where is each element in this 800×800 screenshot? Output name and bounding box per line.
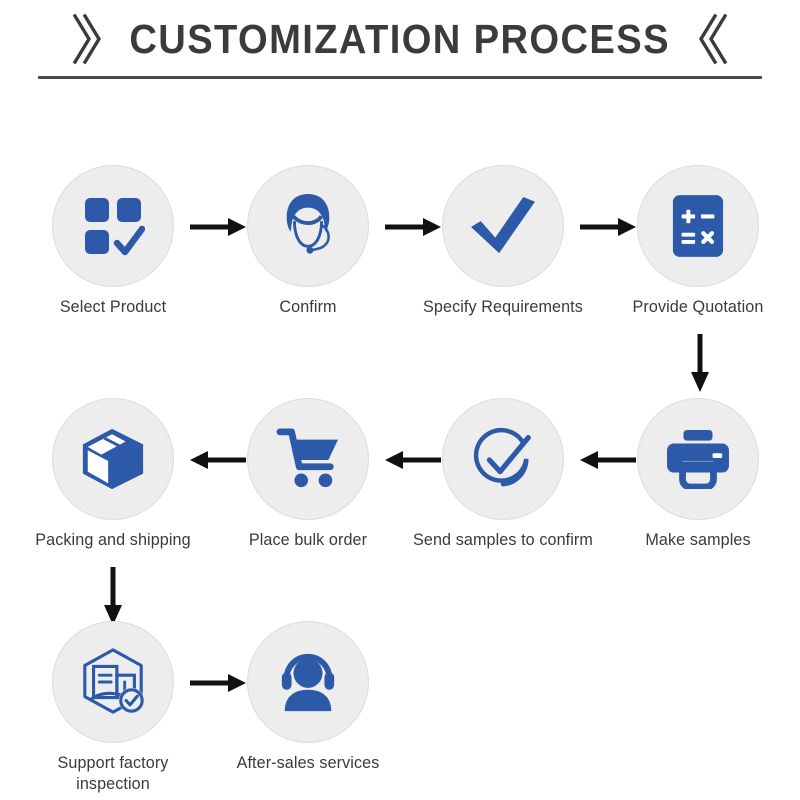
double-chevron-right-icon [71, 13, 101, 65]
step-icon-badge [247, 621, 369, 743]
step-node-confirm[interactable]: Confirm [213, 165, 403, 317]
step-icon-badge [247, 398, 369, 520]
step-icon-badge [637, 165, 759, 287]
step-node-after-sales-services[interactable]: After-sales services [213, 621, 403, 773]
step-label: Support factory inspection [23, 752, 204, 794]
package-box-icon [79, 425, 147, 493]
step-label: Make samples [608, 529, 789, 550]
grid-squares-check-icon [81, 194, 145, 258]
calculator-icon [671, 193, 725, 259]
step-icon-badge [52, 165, 174, 287]
step-node-support-factory-inspection[interactable]: Support factory inspection [18, 621, 208, 794]
step-icon-badge [52, 621, 174, 743]
step-label: After-sales services [218, 752, 399, 773]
printer-icon [665, 429, 731, 489]
checkmark-icon [469, 195, 537, 257]
step-icon-badge [442, 398, 564, 520]
step-node-make-samples[interactable]: Make samples [603, 398, 793, 550]
customization-process-infographic: CUSTOMIZATION PROCESS Select Pro [0, 0, 800, 800]
double-chevron-left-icon [699, 13, 729, 65]
step-node-provide-quotation[interactable]: Provide Quotation [603, 165, 793, 317]
step-icon-badge [247, 165, 369, 287]
step-node-send-samples-to-confirm[interactable]: Send samples to confirm [408, 398, 598, 550]
header: CUSTOMIZATION PROCESS [0, 0, 800, 96]
step-label: Confirm [218, 296, 399, 317]
step-icon-badge [442, 165, 564, 287]
shopping-cart-icon [274, 428, 342, 490]
step-label: Provide Quotation [608, 296, 789, 317]
connector-arrow-down [688, 332, 712, 394]
connector-arrow-down [101, 565, 125, 627]
step-icon-badge [52, 398, 174, 520]
step-node-specify-requirements[interactable]: Specify Requirements [408, 165, 598, 317]
step-label: Specify Requirements [413, 296, 594, 317]
circle-check-icon [470, 426, 536, 492]
person-headset-icon [274, 651, 342, 713]
step-icon-badge [637, 398, 759, 520]
title-row: CUSTOMIZATION PROCESS [0, 8, 800, 70]
step-node-select-product[interactable]: Select Product [18, 165, 208, 317]
header-divider [38, 76, 762, 79]
support-agent-headset-icon [277, 192, 339, 260]
step-node-packing-and-shipping[interactable]: Packing and shipping [18, 398, 208, 550]
page-title: CUSTOMIZATION PROCESS [130, 16, 671, 63]
step-label: Select Product [23, 296, 204, 317]
step-label: Send samples to confirm [413, 529, 594, 550]
step-node-place-bulk-order[interactable]: Place bulk order [213, 398, 403, 550]
factory-inspection-shield-icon [78, 647, 148, 717]
step-label: Place bulk order [218, 529, 399, 550]
step-label: Packing and shipping [23, 529, 204, 550]
